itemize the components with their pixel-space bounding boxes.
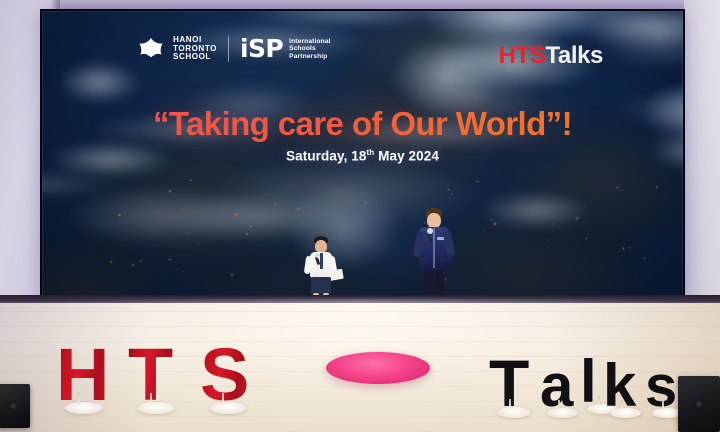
isp-tagline-line-1: International	[289, 38, 331, 46]
floor-letter-talks-k: k	[603, 356, 636, 416]
hts-talks-logo-talks: Talks	[545, 42, 603, 69]
event-date: Saturday, 18th May 2024	[40, 148, 685, 164]
led-backdrop-screen: HANOI TORONTO SCHOOL iSP International S…	[40, 9, 685, 303]
event-date-suffix: May 2024	[374, 149, 439, 164]
right-speaker-hand-card	[439, 254, 454, 263]
isp-logo: iSP International Schools Partnership	[240, 37, 331, 61]
letter-stand-base	[137, 402, 175, 414]
stage-photo: HANOI TORONTO SCHOOL iSP International S…	[0, 0, 720, 432]
letter-stand-rod	[621, 400, 623, 410]
right-speaker-jacket-zip	[433, 228, 435, 268]
audio-speaker-right	[678, 376, 720, 432]
letter-stand-rod	[78, 393, 80, 405]
event-headline: “Taking care of Our World”!	[40, 105, 685, 143]
isp-tagline-line-3: Partnership	[289, 53, 331, 61]
hts-talks-logo-hts: HTS	[499, 42, 546, 69]
letter-stand-base	[209, 402, 247, 414]
audio-speaker-left	[0, 384, 30, 428]
isp-wordmark: iSP	[240, 37, 283, 61]
right-speaker-mic-head	[427, 228, 433, 234]
isp-tagline: International Schools Partnership	[289, 38, 331, 61]
hanoi-toronto-school-logo: HANOI TORONTO SCHOOL	[136, 36, 217, 62]
letter-stand-rod	[509, 399, 511, 410]
letter-stand-rod	[558, 400, 560, 410]
letter-stand-rod	[222, 393, 224, 405]
logo-divider	[228, 36, 229, 62]
floor-letter-talks-l: l	[580, 352, 597, 412]
school-logo-line-3: SCHOOL	[173, 53, 217, 62]
floor-letter-hts-h: H	[56, 338, 109, 412]
letter-stand-base	[547, 408, 578, 418]
wall-right	[684, 0, 720, 316]
floor-letter-talks-a: a	[540, 356, 573, 416]
letter-stand-rod	[150, 393, 152, 405]
letter-stand-base	[610, 408, 641, 418]
left-speaker-tie	[320, 253, 323, 269]
letter-stand-rod	[662, 401, 664, 410]
isp-tagline-line-2: Schools	[289, 45, 331, 53]
event-date-prefix: Saturday, 18	[286, 149, 367, 164]
left-speaker-mic-head	[315, 253, 320, 258]
floor-letter-hts-s: S	[200, 338, 249, 412]
lotus-leaf-icon	[136, 36, 166, 62]
screen-logo-row: HANOI TORONTO SCHOOL iSP International S…	[136, 36, 331, 62]
left-speaker-shorts	[311, 277, 331, 294]
hts-talks-logo: HTSTalks	[499, 42, 603, 70]
school-logo-wordmark: HANOI TORONTO SCHOOL	[173, 36, 217, 62]
letter-stand-base	[65, 402, 103, 414]
right-speaker-head	[427, 213, 441, 228]
letter-stand-base	[497, 407, 531, 418]
stage-circle-rug	[326, 352, 430, 384]
letter-stand-rod	[598, 396, 600, 406]
